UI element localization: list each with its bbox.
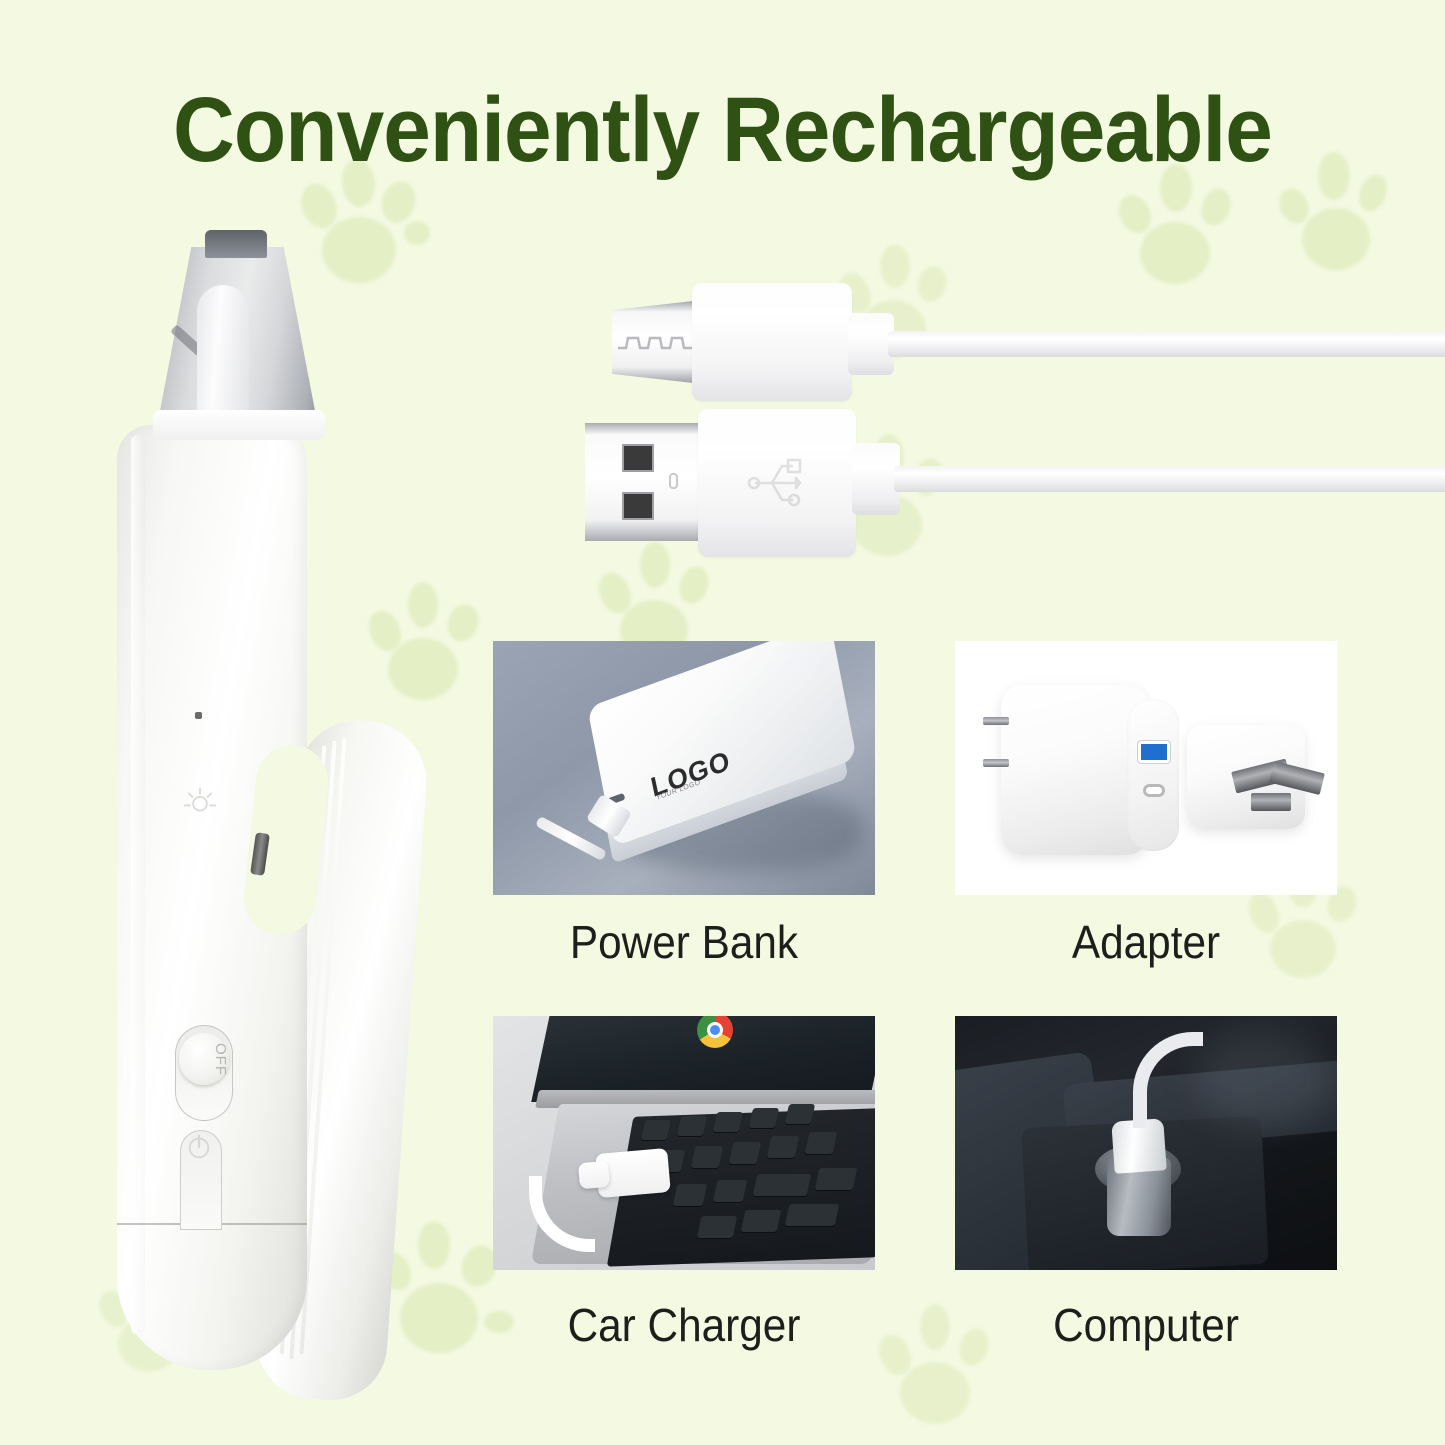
adapter-us-prong-top: [983, 717, 1009, 725]
car-ambient-glow: [1195, 1036, 1335, 1126]
adapter-usb-a-port: [1138, 741, 1170, 763]
charging-option-label-car-charger: Car Charger: [508, 1298, 859, 1352]
infographic-canvas: Conveniently Rechargeable: [0, 0, 1445, 1445]
charging-option-tile-adapter: [955, 641, 1337, 895]
switch-off-label: OFF: [212, 1043, 229, 1076]
adapter-usb-c-port: [1143, 784, 1165, 797]
usb-a-head-icon: [585, 423, 709, 541]
clipper-guard-tip: [205, 230, 267, 258]
charging-option-tile-computer: [955, 1016, 1337, 1270]
usb-a-wire: [894, 466, 1445, 492]
adapter-us-prong-bottom: [983, 759, 1009, 767]
light-icon: [183, 785, 217, 819]
chrome-logo-inner: [707, 1022, 723, 1038]
usb-a-contact-upper: [622, 444, 654, 472]
clipper-inner-post: [197, 285, 249, 415]
micro-usb-teeth-icon: [618, 330, 698, 360]
micro-usb-wire: [888, 331, 1445, 357]
usb-a-strain-relief: [852, 443, 900, 515]
laptop-plug-neck: [578, 1161, 610, 1190]
power-icon: [185, 1133, 213, 1161]
clipper-collar: [153, 410, 325, 440]
usb-a-contact-lower: [622, 492, 654, 520]
adapter-front-face: [1127, 699, 1179, 851]
product-nail-grinder-image: OFF: [95, 225, 455, 1345]
usb-trident-icon: [742, 452, 808, 514]
charging-option-label-computer: Computer: [970, 1298, 1321, 1352]
page-title: Conveniently Rechargeable: [51, 78, 1395, 183]
adapter-prong-earth: [1251, 793, 1291, 811]
micro-usb-plug-housing: [692, 283, 852, 401]
charging-option-tile-power-bank: LOGO YOUR LOGO: [493, 641, 875, 895]
charging-option-label-power-bank: Power Bank: [508, 915, 859, 969]
led-indicator-icon: [195, 712, 202, 719]
charging-option-tile-car-charger: [493, 1016, 875, 1270]
usb-a-keyhole: [669, 473, 678, 489]
charging-option-label-adapter: Adapter: [970, 915, 1321, 969]
clipper-body-highlight: [131, 435, 145, 1335]
